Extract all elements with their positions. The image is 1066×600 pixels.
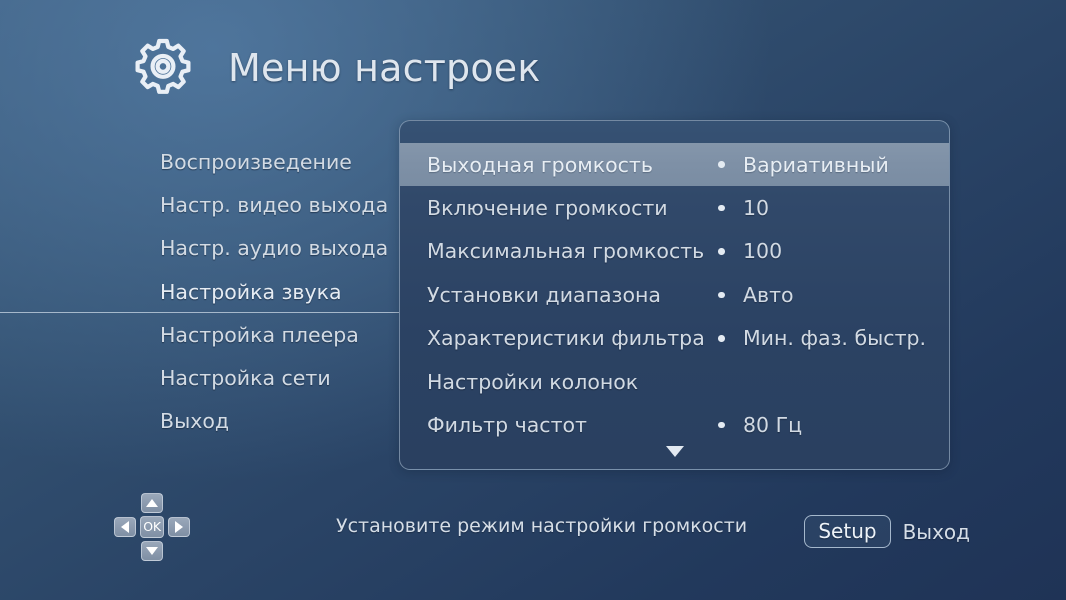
page-title: Меню настроек xyxy=(228,46,541,90)
sidebar-item-audio-output[interactable]: Настр. аудио выхода xyxy=(0,227,400,270)
setting-row-filter-characteristics[interactable]: Характеристики фильтра Мин. фаз. быстр. xyxy=(400,317,949,360)
dpad-right-button[interactable] xyxy=(168,517,190,537)
sidebar-item-label: Воспроизведение xyxy=(160,150,352,174)
bullet-icon xyxy=(718,422,725,429)
sidebar-item-player-setup[interactable]: Настройка плеера xyxy=(0,313,400,356)
bullet-icon xyxy=(718,335,725,342)
header: Меню настроек xyxy=(127,32,541,104)
setting-value: 80 Гц xyxy=(743,413,802,437)
setting-value: Вариативный xyxy=(743,153,889,177)
sidebar-item-network-setup[interactable]: Настройка сети xyxy=(0,356,400,399)
settings-panel: Выходная громкость Вариативный Включение… xyxy=(399,120,950,470)
bullet-icon xyxy=(718,205,725,212)
arrow-left-icon xyxy=(121,521,129,533)
setting-label: Включение громкости xyxy=(427,196,668,220)
dpad-up-button[interactable] xyxy=(141,493,163,513)
setting-value: Мин. фаз. быстр. xyxy=(743,326,926,350)
sidebar-item-sound-setup[interactable]: Настройка звука xyxy=(0,270,400,313)
sidebar: Воспроизведение Настр. видео выхода Наст… xyxy=(0,140,400,443)
gear-icon xyxy=(127,33,199,103)
setting-row-speaker-settings[interactable]: Настройки колонок xyxy=(400,360,949,403)
sidebar-item-label: Настройка сети xyxy=(160,366,331,390)
setting-row-crossover-frequency[interactable]: Фильтр частот 80 Гц xyxy=(400,403,949,446)
settings-list: Выходная громкость Вариативный Включение… xyxy=(400,143,949,447)
exit-label: Выход xyxy=(903,520,970,544)
settings-menu-screen: Меню настроек Воспроизведение Настр. вид… xyxy=(0,0,1066,600)
dpad-left-button[interactable] xyxy=(114,517,136,537)
setting-label: Характеристики фильтра xyxy=(427,326,705,350)
arrow-down-icon xyxy=(146,547,158,555)
sidebar-item-playback[interactable]: Воспроизведение xyxy=(0,140,400,183)
dpad-control: OK xyxy=(114,493,190,561)
sidebar-item-label: Настр. видео выхода xyxy=(160,193,388,217)
sidebar-item-label: Настр. аудио выхода xyxy=(160,236,388,260)
chevron-down-icon[interactable] xyxy=(666,446,684,457)
dpad-down-button[interactable] xyxy=(141,541,163,561)
bullet-icon xyxy=(718,161,725,168)
footer-actions: Setup Выход xyxy=(804,515,970,548)
setting-value: 10 xyxy=(743,196,769,220)
bullet-icon xyxy=(718,248,725,255)
arrow-right-icon xyxy=(175,521,183,533)
hint-text: Установите режим настройки громкости xyxy=(336,515,747,537)
setting-label: Максимальная громкость xyxy=(427,239,704,263)
dpad-ok-label: OK xyxy=(143,521,160,534)
sidebar-item-label: Выход xyxy=(160,409,229,433)
setup-button[interactable]: Setup xyxy=(804,515,890,548)
setting-row-power-on-volume[interactable]: Включение громкости 10 xyxy=(400,186,949,229)
setting-row-max-volume[interactable]: Максимальная громкость 100 xyxy=(400,230,949,273)
setting-value: 100 xyxy=(743,239,782,263)
sidebar-item-video-output[interactable]: Настр. видео выхода xyxy=(0,183,400,226)
setting-label: Настройки колонок xyxy=(427,370,638,394)
arrow-up-icon xyxy=(146,499,158,507)
setting-label: Фильтр частот xyxy=(427,413,587,437)
setting-label: Установки диапазона xyxy=(427,283,661,307)
setting-value: Авто xyxy=(743,283,794,307)
setting-row-output-volume[interactable]: Выходная громкость Вариативный xyxy=(400,143,949,186)
sidebar-item-label: Настройка звука xyxy=(160,280,342,304)
dpad-ok-button[interactable]: OK xyxy=(140,516,164,538)
sidebar-item-exit[interactable]: Выход xyxy=(0,400,400,443)
setting-row-dynamic-range[interactable]: Установки диапазона Авто xyxy=(400,273,949,316)
setting-label: Выходная громкость xyxy=(427,153,653,177)
bullet-icon xyxy=(718,292,725,299)
sidebar-item-label: Настройка плеера xyxy=(160,323,359,347)
